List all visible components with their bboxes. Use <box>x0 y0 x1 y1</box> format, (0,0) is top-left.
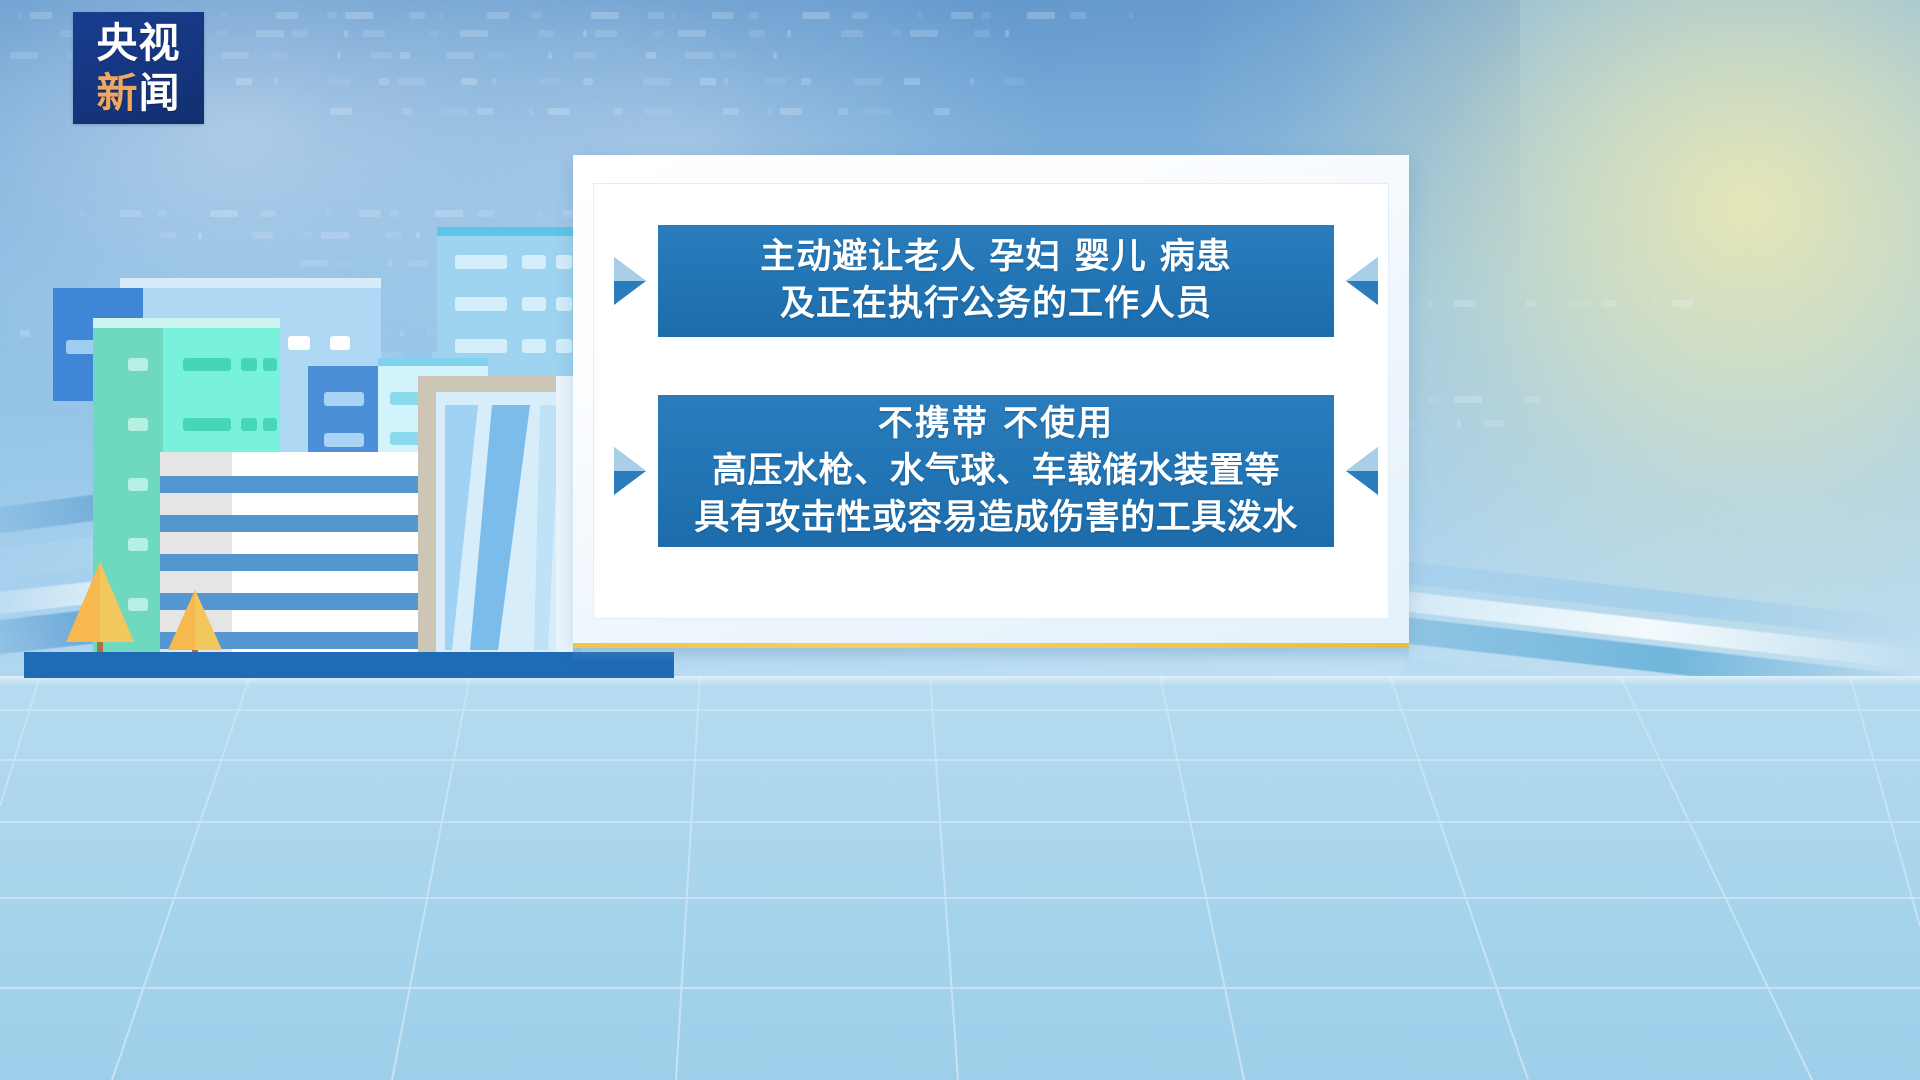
panel-drop-shadow <box>573 648 1409 662</box>
arrow-right-icon <box>612 255 648 307</box>
logo-line-cctv: 央视 <box>97 18 181 68</box>
banner-yield: 主动避让老人 孕妇 婴儿 病患 及正在执行公务的工作人员 <box>658 225 1334 337</box>
banner-no-tools-line-2: 高压水枪、水气球、车载储水装置等 <box>712 448 1280 495</box>
arrow-left-icon <box>1344 445 1380 497</box>
cctv-news-logo: 央视 新闻 <box>73 12 204 124</box>
banner-no-tools-row: 不携带 不使用 高压水枪、水气球、车载储水装置等 具有攻击性或容易造成伤害的工具… <box>612 395 1380 547</box>
arrow-right-icon <box>612 445 648 497</box>
banner-no-tools: 不携带 不使用 高压水枪、水气球、车载储水装置等 具有攻击性或容易造成伤害的工具… <box>658 395 1334 547</box>
logo-char-wen: 闻 <box>139 69 181 117</box>
logo-line-news: 新闻 <box>97 68 181 118</box>
banner-no-tools-line-1: 不携带 不使用 <box>878 401 1114 448</box>
arrow-left-icon <box>1344 255 1380 307</box>
tiled-floor <box>0 676 1920 1080</box>
banner-yield-line-1: 主动避让老人 孕妇 婴儿 病患 <box>760 234 1232 281</box>
screen: 央视 新闻 主动避让老人 孕妇 婴儿 病患 及正在执行公务的工作人员 <box>0 0 1920 1080</box>
banner-yield-row: 主动避让老人 孕妇 婴儿 病患 及正在执行公务的工作人员 <box>612 225 1380 337</box>
banner-no-tools-line-3: 具有攻击性或容易造成伤害的工具泼水 <box>694 495 1298 542</box>
banner-yield-line-2: 及正在执行公务的工作人员 <box>780 281 1212 328</box>
logo-char-xin: 新 <box>97 69 139 117</box>
